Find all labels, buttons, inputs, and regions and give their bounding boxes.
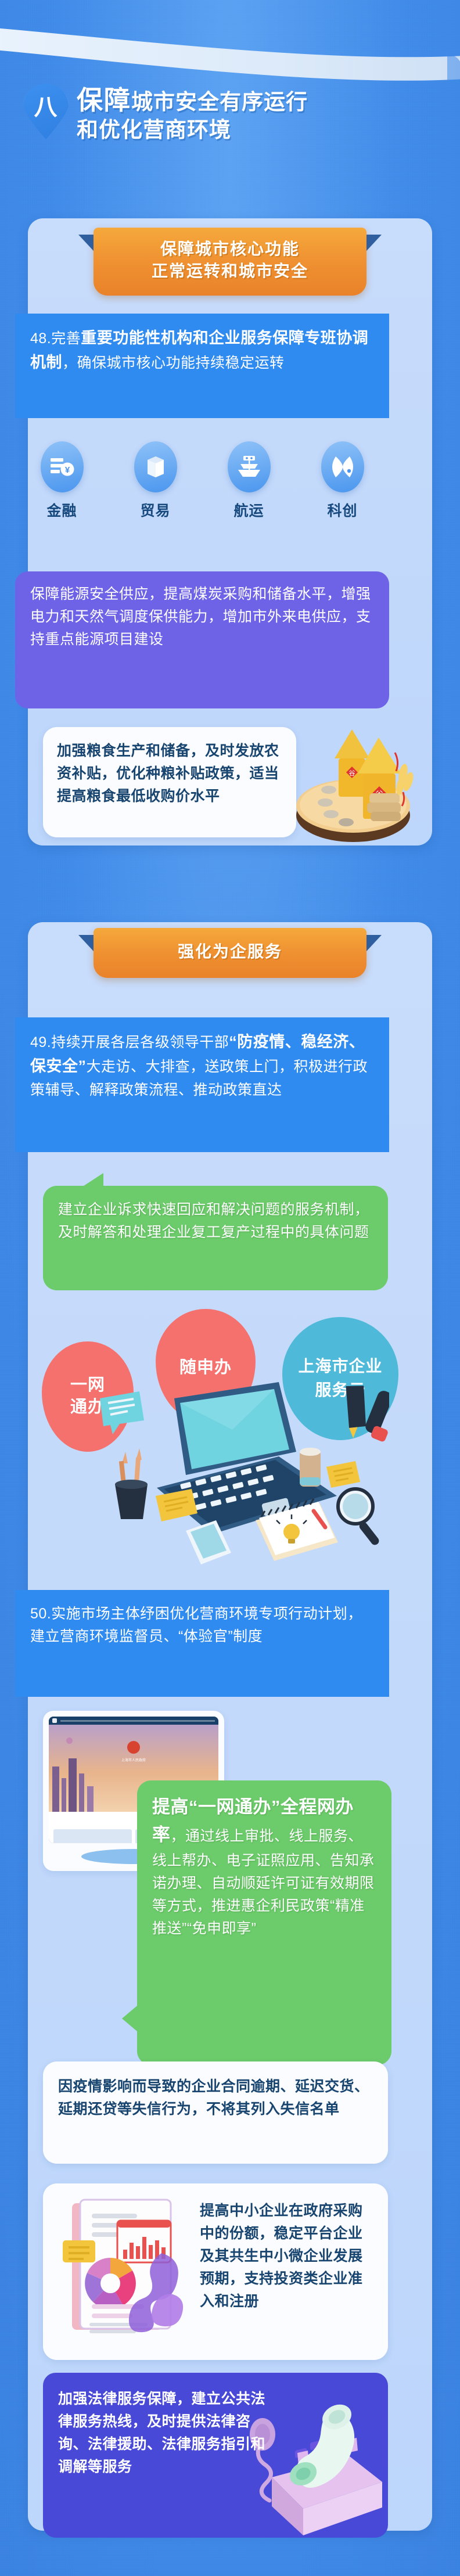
grain-security-text: 加强粮食生产和储备，及时发放农资补贴，优化种粮补贴政策，适当提高粮食最低收购价水… bbox=[57, 740, 282, 808]
section-banner-1-line2: 正常运转和城市安全 bbox=[105, 260, 355, 282]
grain-silo-illustration: 谷 谷 bbox=[283, 718, 417, 851]
platform-bubble-3-line1: 上海市企业 bbox=[298, 1357, 382, 1375]
online-service-plain: ，通过线上审批、线上服务、线上帮办、电子证照应用、告知承诺办理、自动顺延许可证有… bbox=[152, 1828, 375, 1936]
chat-bubble-icon bbox=[100, 1391, 144, 1434]
sme-procurement-text: 提高中小企业在政府采购中的份额，稳定平台企业及其共生中小微企业发展预期，支持投资… bbox=[200, 2196, 374, 2313]
site-caption: 上海市人民政府 bbox=[121, 1757, 146, 1762]
magnifier-icon bbox=[338, 1489, 380, 1546]
coffee-cup-icon bbox=[300, 1448, 321, 1487]
item-49-number: 49. bbox=[30, 1034, 51, 1050]
policy-item-50: 50.实施市场主体纾困优化营商环境专项行动计划，建立营商环境监督员、“体验官”制… bbox=[15, 1590, 389, 1697]
policy-item-49: 49.持续开展各层各级领导干部“防疫情、稳经济、保安全”大走访、大排查，送政策上… bbox=[15, 1017, 389, 1152]
pillar-scitech-label: 科创 bbox=[305, 499, 380, 520]
enterprise-service-bubble: 建立企业诉求快速回应和解决问题的服务机制，及时解答和处理企业复工复产过程中的具体… bbox=[43, 1186, 388, 1290]
section-number-pin: 八 bbox=[23, 84, 69, 139]
grain-security-block: 加强粮食生产和储备，及时发放农资补贴，优化种粮补贴政策，适当提高粮食最低收购价水… bbox=[43, 727, 296, 837]
site-nav-bar bbox=[60, 1720, 215, 1722]
core-function-pillars: ¥ 金融 贸易 航运 bbox=[15, 441, 389, 520]
item-50-number: 50. bbox=[30, 1606, 51, 1622]
pillar-trade: 贸易 bbox=[118, 441, 193, 520]
site-logo-icon bbox=[52, 1718, 57, 1723]
pillar-trade-label: 贸易 bbox=[118, 499, 193, 520]
pillar-finance: ¥ 金融 bbox=[24, 441, 100, 520]
legal-services-text: 加强法律服务保障，建立公共法律服务热线，及时提供法律咨询、法律援助、法律服务指引… bbox=[58, 2388, 267, 2478]
svg-text:¥: ¥ bbox=[64, 465, 70, 475]
item-49-plain-1: 持续开展各层各级领导干部 bbox=[51, 1034, 229, 1050]
speech-bubble-tail-left bbox=[122, 2006, 137, 2031]
item-50-text: 实施市场主体纾困优化营商环境专项行动计划，建立营商环境监督员、“体验官”制度 bbox=[30, 1606, 362, 1645]
laptop-desk-illustration bbox=[87, 1382, 389, 1574]
sme-procurement-block: 提高中小企业在政府采购中的份额，稳定平台企业及其共生中小微企业发展预期，支持投资… bbox=[43, 2183, 388, 2360]
credit-blacklist-block: 因疫情影响而导致的企业合同逾期、延迟交货、延期还贷等失信行为，不将其列入失信名单 bbox=[43, 2061, 388, 2164]
money-coin-icon: ¥ bbox=[41, 441, 84, 492]
section-banner-1: 保障城市核心功能 正常运转和城市安全 bbox=[94, 228, 366, 296]
pencil-cup-icon bbox=[115, 1448, 148, 1519]
pillar-shipping: 航运 bbox=[211, 441, 287, 520]
energy-supply-block: 保障能源安全供应，提高煤炭采购和储备水平，增强电力和天然气调度保供能力，增加市外… bbox=[15, 571, 389, 708]
marker-icon bbox=[364, 1389, 389, 1442]
package-box-icon bbox=[134, 441, 177, 492]
item-48-number: 48. bbox=[30, 330, 51, 347]
charts-report-illustration bbox=[57, 2196, 192, 2343]
cargo-ship-icon bbox=[228, 441, 271, 492]
section-banner-2-line1: 强化为企服务 bbox=[105, 941, 355, 963]
page-title-line2: 和优化营商环境 bbox=[77, 117, 308, 143]
page-title-rest: 城市安全有序运行 bbox=[131, 90, 308, 114]
item-48-plain-2: ，确保城市核心功能持续稳定运转 bbox=[62, 355, 285, 371]
section-number-label: 八 bbox=[23, 88, 69, 122]
national-emblem-icon bbox=[127, 1741, 140, 1754]
policy-item-48: 48.完善重要功能性机构和企业服务保障专班协调机制，确保城市核心功能持续稳定运转 bbox=[15, 314, 389, 418]
legal-services-block: 加强法律服务保障，建立公共法律服务热线，及时提供法律咨询、法律援助、法律服务指引… bbox=[43, 2373, 388, 2538]
page-title: 保障城市安全有序运行 和优化营商环境 bbox=[77, 81, 308, 143]
enterprise-service-text: 建立企业诉求快速回应和解决问题的服务机制，及时解答和处理企业复工复产过程中的具体… bbox=[58, 1199, 373, 1244]
item-48-plain-1: 完善 bbox=[51, 330, 81, 347]
online-service-bubble: 提高“一网通办”全程网办率，通过线上审批、线上服务、线上帮办、电子证照应用、告知… bbox=[137, 1780, 391, 2065]
silo-char-back: 谷 bbox=[349, 769, 355, 777]
platform-bubble-2-line1: 随申办 bbox=[179, 1354, 232, 1378]
section-banner-2: 强化为企服务 bbox=[94, 928, 366, 978]
speech-bubble-tail bbox=[80, 1173, 103, 1188]
section-banner-1-line1: 保障城市核心功能 bbox=[105, 238, 355, 260]
energy-supply-text: 保障能源安全供应，提高煤炭采购和储备水平，增强电力和天然气调度保供能力，增加市外… bbox=[30, 583, 374, 651]
atom-science-icon bbox=[321, 441, 364, 492]
pillar-finance-label: 金融 bbox=[24, 499, 100, 520]
sticky-note-icon bbox=[326, 1461, 360, 1488]
page-header: 八 保障城市安全有序运行 和优化营商环境 bbox=[0, 81, 460, 143]
pillar-shipping-label: 航运 bbox=[211, 499, 287, 520]
pillar-scitech: 科创 bbox=[305, 441, 380, 520]
page-title-strong: 保障 bbox=[77, 85, 131, 115]
credit-blacklist-text: 因疫情影响而导致的企业合同逾期、延迟交货、延期还贷等失信行为，不将其列入失信名单 bbox=[58, 2075, 373, 2121]
